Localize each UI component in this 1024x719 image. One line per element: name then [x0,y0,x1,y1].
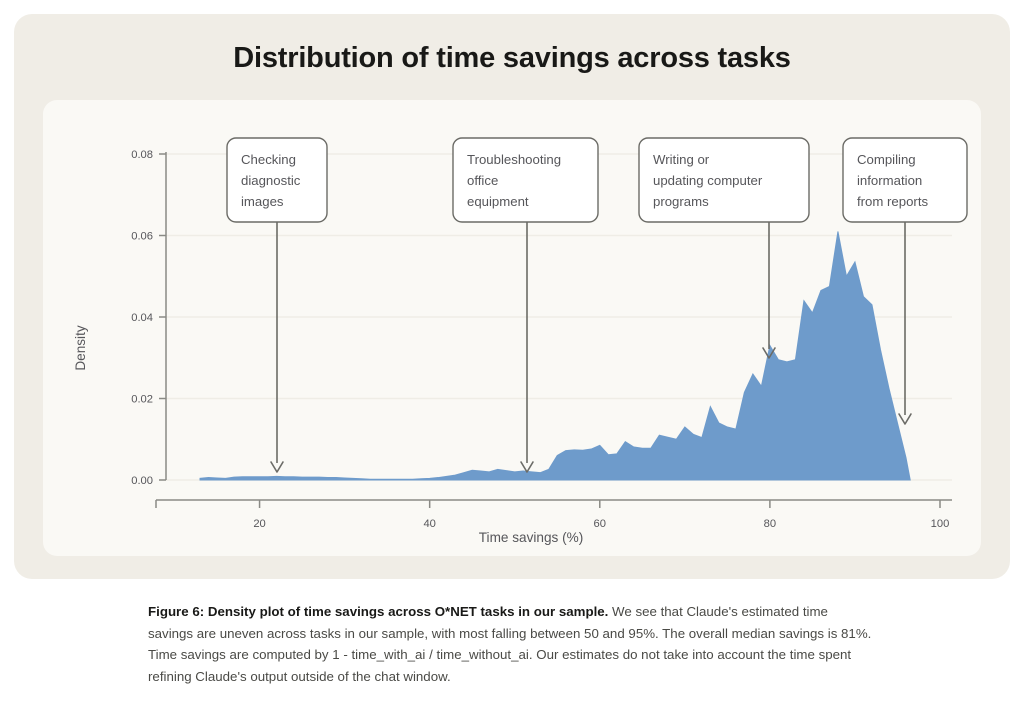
annotation-line: Writing or [653,152,710,167]
annotation-line: from reports [857,194,928,209]
annotation-line: office [467,173,498,188]
plot-panel: 20406080100 0.000.020.040.060.08 Checkin… [43,100,981,556]
annotation-line: information [857,173,922,188]
annotation-boxes[interactable]: CheckingdiagnosticimagesTroubleshootingo… [227,138,967,222]
y-tick-label: 0.02 [131,394,153,406]
x-tick-label: 80 [764,518,776,530]
x-tick-labels: 20406080100 [253,518,949,530]
y-tick-label: 0.04 [131,312,153,324]
y-tick-label: 0.00 [131,475,153,487]
annotation-line: equipment [467,194,529,209]
annotation-line: Checking [241,152,296,167]
y-axis-title: Density [73,325,88,371]
x-tick-label: 60 [594,518,606,530]
x-axis-title: Time savings (%) [479,530,584,545]
page-title: Distribution of time savings across task… [14,42,1010,75]
caption-lead: Figure 6: Density plot of time savings a… [148,604,608,619]
figure-card: Distribution of time savings across task… [14,14,1010,579]
density-chart: 20406080100 0.000.020.040.060.08 Checkin… [43,100,981,556]
y-tick-label: 0.06 [131,231,153,243]
x-tick-label: 100 [931,518,950,530]
annotation-line: Troubleshooting [467,152,561,167]
annotation-box-writing-or-updating-computer-programs[interactable]: Writing orupdating computerprograms [639,138,809,222]
annotation-box-compiling-information-from-reports[interactable]: Compilinginformationfrom reports [843,138,967,222]
x-tick-label: 40 [423,518,435,530]
annotation-line: updating computer [653,173,763,188]
annotation-line: diagnostic [241,173,301,188]
x-tick-label: 20 [253,518,265,530]
y-tick-label: 0.08 [131,149,153,161]
density-area [200,231,910,480]
annotation-line: images [241,194,284,209]
annotation-box-checking-diagnostic-images[interactable]: Checkingdiagnosticimages [227,138,327,222]
annotation-arrow [899,222,911,424]
annotation-line: programs [653,194,709,209]
figure-caption: Figure 6: Density plot of time savings a… [148,601,874,687]
annotation-arrow [763,222,775,358]
annotation-arrow [271,222,283,472]
annotation-box-troubleshooting-office-equipment[interactable]: Troubleshootingofficeequipment [453,138,598,222]
annotation-arrow [521,222,533,472]
y-tick-labels: 0.000.020.040.060.08 [131,149,153,487]
annotation-line: Compiling [857,152,916,167]
